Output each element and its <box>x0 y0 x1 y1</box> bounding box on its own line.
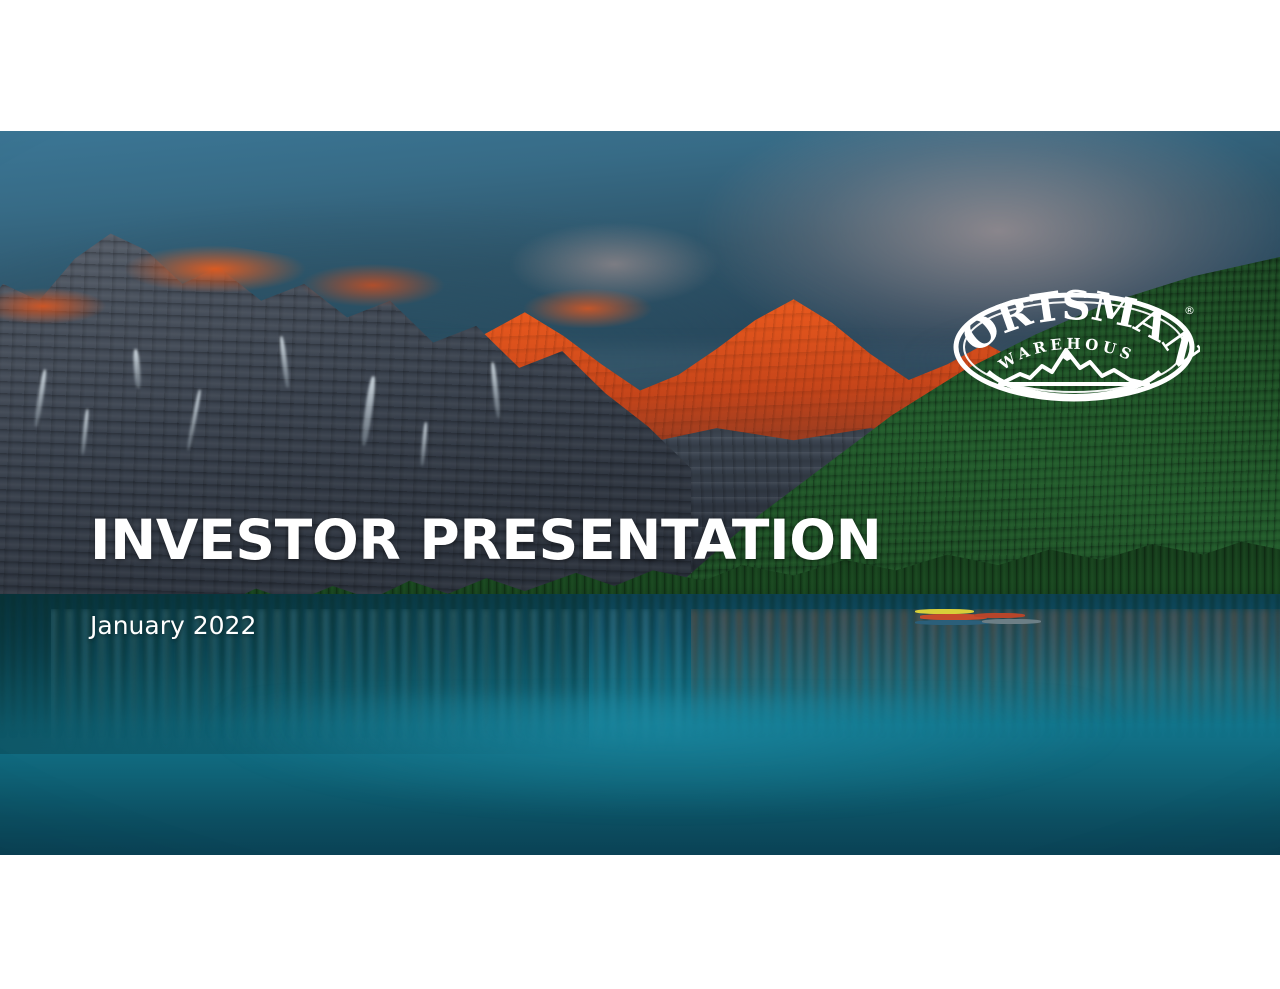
registered-trademark-icon: ® <box>1184 304 1195 317</box>
slide-page: INVESTOR PRESENTATION January 2022 SPORT… <box>0 0 1280 989</box>
title-slide: INVESTOR PRESENTATION January 2022 SPORT… <box>0 131 1280 855</box>
page-title: INVESTOR PRESENTATION <box>90 512 881 568</box>
background-photo <box>0 131 1280 855</box>
page-subtitle-date: January 2022 <box>90 568 881 640</box>
canoe-dock <box>915 605 1043 628</box>
title-block: INVESTOR PRESENTATION January 2022 <box>90 512 881 640</box>
water-sheen <box>0 696 1280 855</box>
sportsmans-warehouse-logo: SPORTSMAN'S WAREHOUSE ® <box>948 288 1200 406</box>
